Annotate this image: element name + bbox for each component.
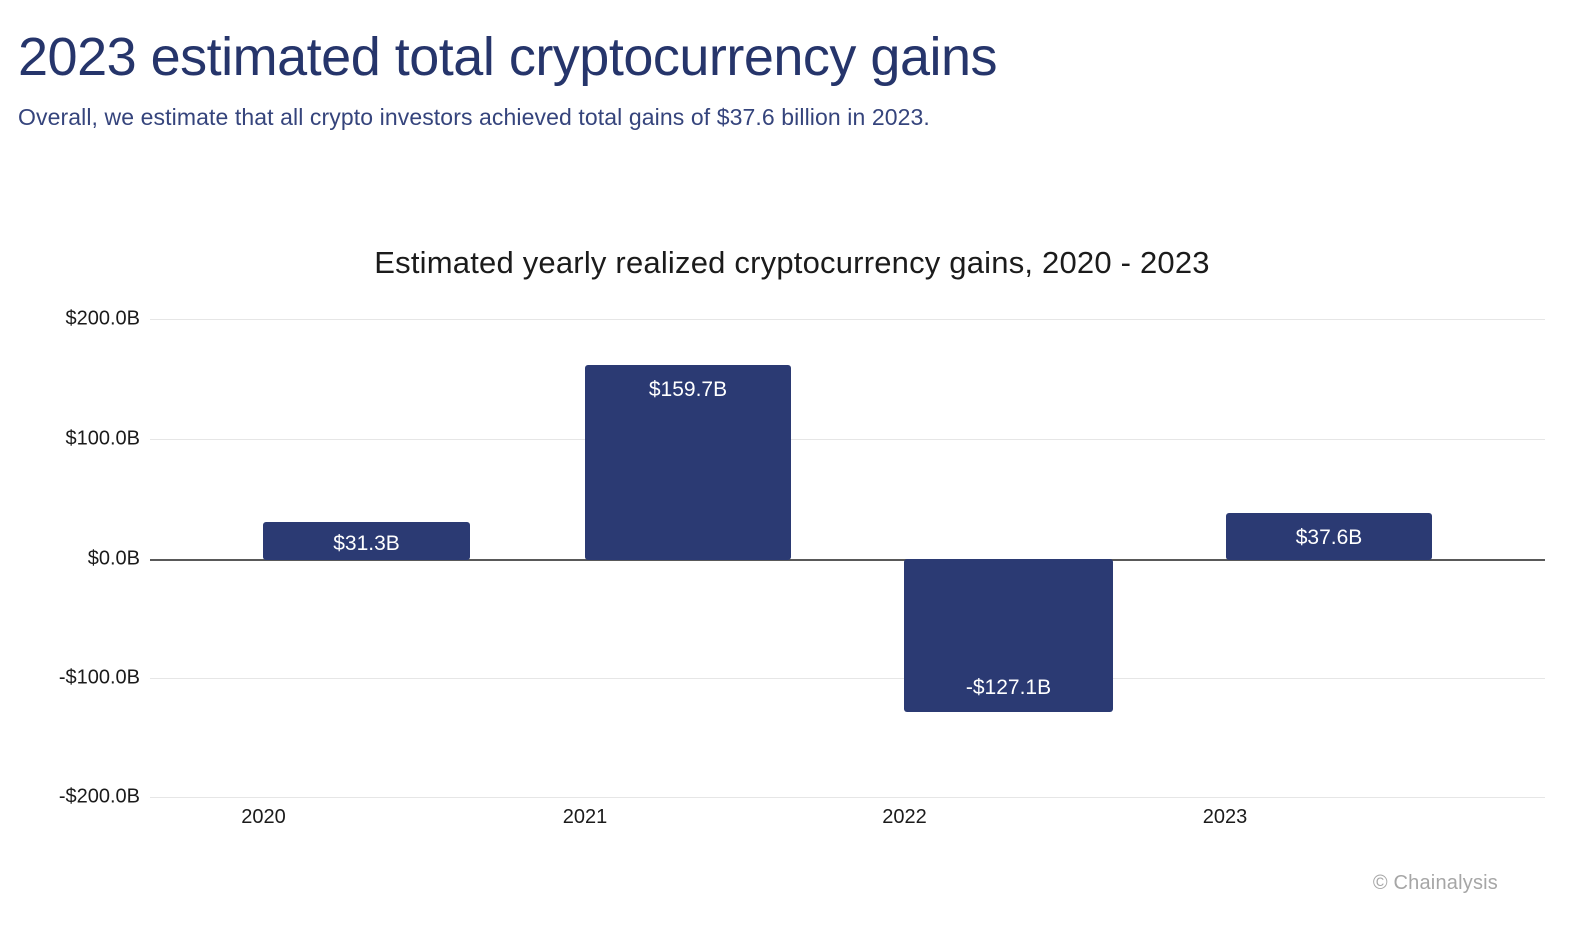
plot-area: $31.3B $159.7B -$127.1B $37.6B: [150, 319, 1545, 797]
chart-title: Estimated yearly realized cryptocurrency…: [0, 245, 1584, 281]
bar-2022[interactable]: -$127.1B: [904, 559, 1113, 712]
bar-value-label-2020: $31.3B: [263, 532, 470, 556]
y-axis-tick-label: -$100.0B: [0, 667, 140, 690]
gridline-neg200b: [150, 797, 1545, 798]
bar-value-label-2022: -$127.1B: [904, 676, 1113, 700]
x-axis-tick-label-2023: 2023: [1122, 806, 1328, 829]
y-axis-tick-label: -$200.0B: [0, 786, 140, 809]
bar-2020[interactable]: $31.3B: [263, 522, 470, 560]
x-axis-tick-label-2020: 2020: [160, 806, 367, 829]
x-axis-tick-label-2021: 2021: [482, 806, 688, 829]
bar-value-label-2021: $159.7B: [585, 378, 791, 402]
bar-chart: Estimated yearly realized cryptocurrency…: [0, 0, 1584, 952]
y-axis-tick-label: $100.0B: [0, 428, 140, 451]
bar-2023[interactable]: $37.6B: [1226, 513, 1432, 560]
x-axis-tick-label-2022: 2022: [800, 806, 1009, 829]
gridline-100b: [150, 439, 1545, 440]
y-axis-tick-label: $0.0B: [0, 548, 140, 571]
gridline-200b: [150, 319, 1545, 320]
bar-value-label-2023: $37.6B: [1226, 526, 1432, 550]
chainalysis-watermark: © Chainalysis: [1373, 872, 1498, 895]
gridline-neg100b: [150, 678, 1545, 679]
y-axis-tick-label: $200.0B: [0, 308, 140, 331]
bar-2021[interactable]: $159.7B: [585, 365, 791, 560]
